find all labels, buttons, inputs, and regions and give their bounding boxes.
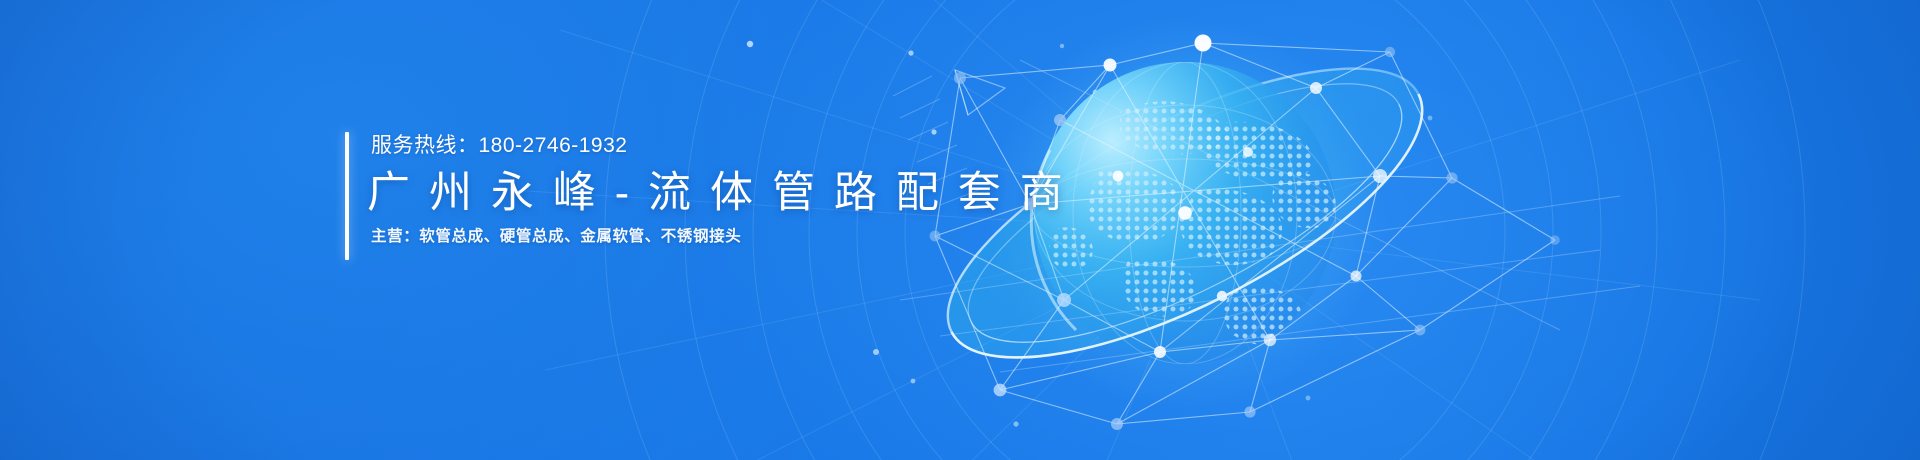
business-scope: 主营：软管总成、硬管总成、金属软管、不锈钢接头 bbox=[371, 225, 741, 249]
accent-bar bbox=[345, 132, 349, 260]
service-hotline: 服务热线：180-2746-1932 bbox=[371, 132, 627, 160]
hero-banner: 服务热线：180-2746-1932 广 州 永 峰 - 流 体 管 路 配 套… bbox=[0, 0, 1920, 460]
banner-text-block: 服务热线：180-2746-1932 广 州 永 峰 - 流 体 管 路 配 套… bbox=[345, 126, 985, 266]
page-title: 广 州 永 峰 - 流 体 管 路 配 套 商 bbox=[367, 164, 1066, 222]
